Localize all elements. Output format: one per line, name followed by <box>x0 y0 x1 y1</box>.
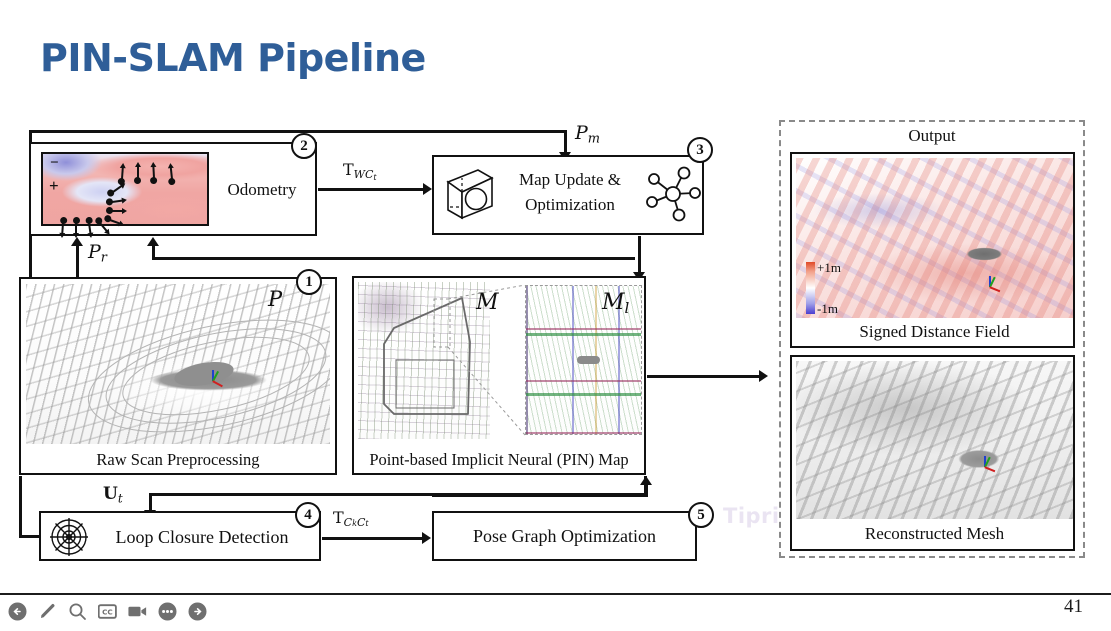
sdf-colorbar-max-label: +1m <box>817 260 841 276</box>
page-title: PIN-SLAM Pipeline <box>40 36 426 80</box>
sdf-colorbar-min-label: -1m <box>817 301 838 317</box>
output-sdf-card[interactable]: +1m -1m Signed Distance Field <box>790 152 1075 348</box>
surface-normal-icon <box>61 223 64 235</box>
route-posegraph-to-pinmap-horizontal <box>432 494 648 497</box>
edge-label-pr: Pr <box>88 241 107 266</box>
video-camera-icon[interactable] <box>128 602 147 621</box>
edge-label-tck: TCkCt <box>333 508 369 529</box>
block-badge-5: 5 <box>688 502 714 528</box>
route-map-feedback-horizontal <box>152 257 635 260</box>
route-twc-arrowhead <box>423 183 432 195</box>
symbol-map-local-base: M <box>602 290 625 315</box>
svg-text:CC: CC <box>102 608 113 617</box>
odometry-sdf-thumbnail-frame: − + <box>41 152 209 226</box>
block-badge-4: 4 <box>295 502 321 528</box>
edge-label-ut: Ut <box>103 484 123 506</box>
symbol-map-local: Ml <box>602 290 629 317</box>
output-mesh-card[interactable]: Reconstructed Mesh <box>790 355 1075 551</box>
raw-scan-image <box>26 284 330 444</box>
route-map-feedback-vertical <box>152 245 155 259</box>
watermark-text: Tipries <box>723 504 781 528</box>
route-pinmap-to-output <box>647 375 761 378</box>
route-top-horizontal <box>29 130 566 133</box>
edge-label-twc-base: T <box>343 160 354 179</box>
output-panel-title: Output <box>779 126 1085 146</box>
route-pr-arrowhead <box>71 237 83 246</box>
block-caption-odometry: Odometry <box>214 180 310 200</box>
symbol-P: P <box>268 287 282 311</box>
edge-label-pm-base: P <box>575 122 588 144</box>
zoom-connector-lines <box>430 285 530 440</box>
edge-label-tck-base: T <box>333 508 344 527</box>
edge-label-pr-base: P <box>88 241 101 263</box>
scan-context-icon <box>49 517 89 557</box>
route-tck-arrowhead <box>422 532 431 544</box>
edge-label-ut-sub: t <box>118 492 123 506</box>
block-badge-3: 3 <box>687 137 713 163</box>
sdf-plus-sign: + <box>49 176 59 196</box>
output-mesh-caption: Reconstructed Mesh <box>792 524 1077 544</box>
surface-normal-icon <box>137 165 139 178</box>
route-posegraph-to-pinmap-vertical <box>645 484 648 496</box>
block-badge-1: 1 <box>296 269 322 295</box>
forward-icon[interactable] <box>188 602 207 621</box>
output-mesh-image <box>796 361 1073 519</box>
player-toolbar[interactable]: CC <box>8 602 207 621</box>
symbol-map-local-sub: l <box>625 299 630 317</box>
scan-lidar-rings <box>26 284 330 444</box>
slide-canvas: PIN-SLAM Pipeline Pm 2 − + Odometry Pr <box>0 0 1111 631</box>
page-number: 41 <box>1064 596 1083 618</box>
edge-label-twc: TWCt <box>343 160 377 182</box>
edge-label-pm-sub: m <box>588 132 600 147</box>
route-block1-to-loop-vertical <box>19 476 22 537</box>
surface-normal-icon <box>75 223 77 235</box>
output-sdf-image <box>796 158 1073 318</box>
block-caption-map-update-line1: Map Update & <box>500 170 640 190</box>
surface-normal-icon <box>152 165 155 178</box>
search-icon[interactable] <box>68 602 87 621</box>
voxel-cube-icon <box>442 166 498 224</box>
route-pr-vertical <box>76 245 79 279</box>
edge-label-pm: Pm <box>575 122 600 147</box>
block-caption-pose-graph: Pose Graph Optimization <box>432 526 697 547</box>
block-badge-2: 2 <box>291 133 317 159</box>
neural-network-icon <box>645 166 701 222</box>
more-options-icon[interactable] <box>158 602 177 621</box>
block-caption-loop-closure: Loop Closure Detection <box>92 527 312 548</box>
pen-icon[interactable] <box>38 602 57 621</box>
surface-normal-icon <box>112 210 124 212</box>
route-tck-horizontal <box>322 537 424 540</box>
sdf-colorbar <box>806 262 815 314</box>
edge-label-pr-sub: r <box>101 251 107 266</box>
route-map-feedback-arrowhead <box>147 237 159 246</box>
route-posegraph-to-pinmap-arrowhead <box>640 476 652 485</box>
route-pinmap-to-output-arrowhead <box>759 370 768 382</box>
route-twc-horizontal <box>318 188 425 191</box>
route-mapupdate-to-pinmap <box>638 236 641 274</box>
back-icon[interactable] <box>8 602 27 621</box>
edge-label-ut-base: U <box>103 484 118 504</box>
sdf-minus-sign: − <box>50 155 59 172</box>
closed-caption-icon[interactable]: CC <box>98 602 117 621</box>
block-caption-map-update-line2: Optimization <box>500 195 640 215</box>
output-sdf-caption: Signed Distance Field <box>792 322 1077 342</box>
block-caption-raw-scan: Raw Scan Preprocessing <box>19 450 337 470</box>
route-block1-to-loop-horizontal <box>19 535 41 538</box>
block-caption-pin-map: Point-based Implicit Neural (PIN) Map <box>352 450 646 470</box>
